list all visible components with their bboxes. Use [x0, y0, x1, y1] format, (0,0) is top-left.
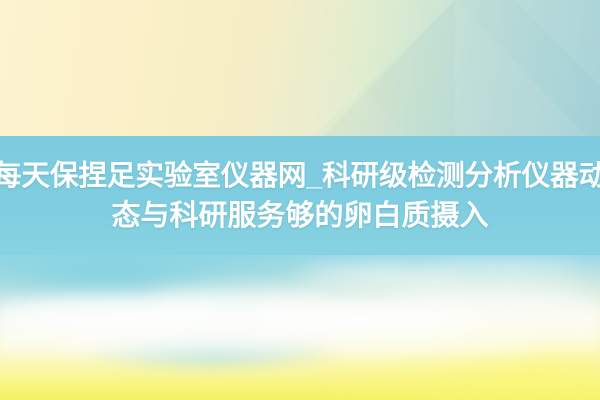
banner-image: 每天保捏足实验室仪器网_科研级检测分析仪器动 态与科研服务够的卵白质摄入: [0, 0, 600, 400]
title-line-1: 每天保捏足实验室仪器网_科研级检测分析仪器动: [0, 156, 600, 196]
cloud-wisp: [430, 262, 580, 278]
title-line-2: 态与科研服务够的卵白质摄入: [111, 196, 488, 236]
diagonal-facets-decoration: [0, 0, 600, 150]
cloud-haze: [0, 290, 600, 360]
banner-title: 每天保捏足实验室仪器网_科研级检测分析仪器动 态与科研服务够的卵白质摄入: [0, 136, 600, 255]
